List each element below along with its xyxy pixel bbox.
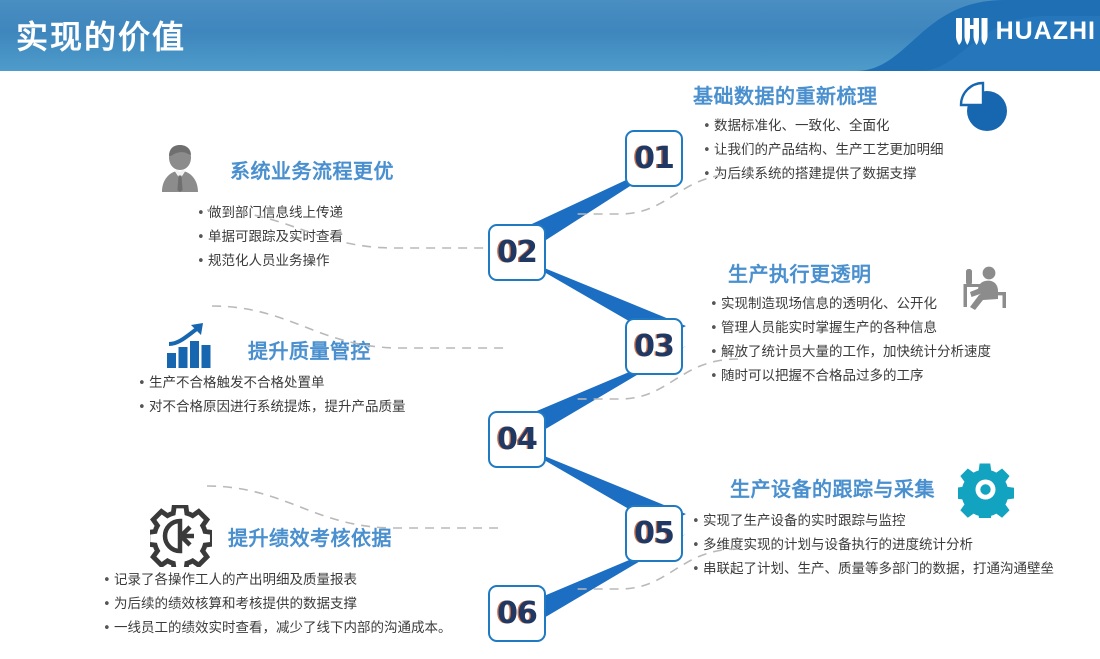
bullet-item: •串联起了计划、生产、质量等多部门的数据，打通沟通壁垒: [692, 559, 1054, 580]
businessman-icon: [152, 140, 208, 196]
bullet-item: •解放了统计员大量的工作，加快统计分析速度: [710, 342, 991, 363]
step-title-03: 生产执行更透明: [728, 258, 991, 287]
step-number-label: 04: [497, 422, 537, 457]
bullet-text: 为后续的绩效核算和考核提供的数据支撑: [114, 594, 357, 615]
page-title: 实现的价值: [16, 12, 186, 58]
step-number-label: 06: [497, 596, 537, 631]
bullet-dot: •: [710, 318, 721, 339]
dashed-leader-04: [210, 300, 510, 360]
brand-logo: HUAZHI: [955, 16, 1096, 46]
step-number-label: 03: [634, 329, 674, 364]
bullet-item: •让我们的产品结构、生产工艺更加明细: [703, 140, 944, 161]
dashed-leader-02: [205, 196, 505, 256]
bullet-text: 解放了统计员大量的工作，加快统计分析速度: [721, 342, 991, 363]
bullet-item: •一线员工的绩效实时查看，减少了线下内部的沟通成本。: [103, 618, 452, 639]
bullet-item: •为后续的绩效核算和考核提供的数据支撑: [103, 594, 452, 615]
pie-chart-icon: [958, 78, 1016, 138]
bullet-text: 数据标准化、一致化、全面化: [714, 116, 890, 137]
step-number-06[interactable]: 06: [488, 585, 546, 642]
step-block-03: 生产执行更透明 •实现制造现场信息的透明化、公开化 •管理人员能实时掌握生产的各…: [700, 258, 991, 387]
step-title-01: 基础数据的重新梳理: [693, 80, 944, 109]
step-number-04[interactable]: 04: [488, 411, 546, 468]
bullet-item: •记录了各操作工人的产出明细及质量报表: [103, 570, 452, 591]
bullet-dot: •: [710, 294, 721, 315]
bullet-item: •管理人员能实时掌握生产的各种信息: [710, 318, 991, 339]
bullet-dot: •: [138, 373, 149, 394]
bullet-text: 串联起了计划、生产、质量等多部门的数据，打通沟通壁垒: [703, 559, 1054, 580]
step-number-label: 05: [634, 516, 674, 551]
bullet-item: •对不合格原因进行系统提炼，提升产品质量: [138, 397, 406, 418]
dashed-leader-06: [205, 480, 505, 540]
bullet-dot: •: [138, 397, 149, 418]
brand-name: HUAZHI: [996, 17, 1096, 46]
bullet-text: 记录了各操作工人的产出明细及质量报表: [114, 570, 357, 591]
step-number-label: 01: [634, 141, 674, 176]
gear-performance-icon: [150, 505, 212, 567]
bullet-dot: •: [103, 570, 114, 591]
step-number-01[interactable]: 01: [625, 130, 683, 187]
gear-icon: [958, 462, 1014, 518]
bullet-item: •随时可以把握不合格品过多的工序: [710, 366, 991, 387]
bullet-text: 一线员工的绩效实时查看，减少了线下内部的沟通成本。: [114, 618, 452, 639]
bullet-text: 生产不合格触发不合格处置单: [149, 373, 325, 394]
bullet-item: •实现制造现场信息的透明化、公开化: [710, 294, 991, 315]
step-block-02: 系统业务流程更优: [230, 155, 394, 184]
bullet-dot: •: [703, 140, 714, 161]
bullet-item: •生产不合格触发不合格处置单: [138, 373, 406, 394]
bullet-dot: •: [692, 511, 703, 532]
bullet-text: 管理人员能实时掌握生产的各种信息: [721, 318, 937, 339]
bullet-dot: •: [703, 116, 714, 137]
bullet-text: 实现了生产设备的实时跟踪与监控: [703, 511, 906, 532]
step-bullets-04: •生产不合格触发不合格处置单 •对不合格原因进行系统提炼，提升产品质量: [138, 370, 406, 418]
slide-header: 实现的价值 HUAZHI: [0, 0, 1100, 71]
bullet-text: 实现制造现场信息的透明化、公开化: [721, 294, 937, 315]
bullet-text: 多维度实现的计划与设备执行的进度统计分析: [703, 535, 973, 556]
step-title-02: 系统业务流程更优: [230, 155, 394, 184]
step-number-05[interactable]: 05: [625, 505, 683, 562]
slide-canvas: 实现的价值 HUAZHI 01 02 03: [0, 0, 1100, 659]
bullet-text: 随时可以把握不合格品过多的工序: [721, 366, 924, 387]
step-bullets-06: •记录了各操作工人的产出明细及质量报表 •为后续的绩效核算和考核提供的数据支撑 …: [103, 567, 452, 639]
bullet-item: •数据标准化、一致化、全面化: [703, 116, 944, 137]
bullet-text: 为后续系统的搭建提供了数据支撑: [714, 164, 917, 185]
bullet-text: 对不合格原因进行系统提炼，提升产品质量: [149, 397, 406, 418]
person-at-desk-icon: [958, 262, 1014, 318]
step-number-label: 02: [497, 235, 537, 270]
step-number-03[interactable]: 03: [625, 318, 683, 375]
huazhi-crown-logo-icon: [955, 16, 989, 46]
bullet-text: 让我们的产品结构、生产工艺更加明细: [714, 140, 944, 161]
bullet-item: •多维度实现的计划与设备执行的进度统计分析: [692, 535, 1054, 556]
bullet-dot: •: [103, 618, 114, 639]
step-number-02[interactable]: 02: [488, 224, 546, 281]
bullet-dot: •: [103, 594, 114, 615]
